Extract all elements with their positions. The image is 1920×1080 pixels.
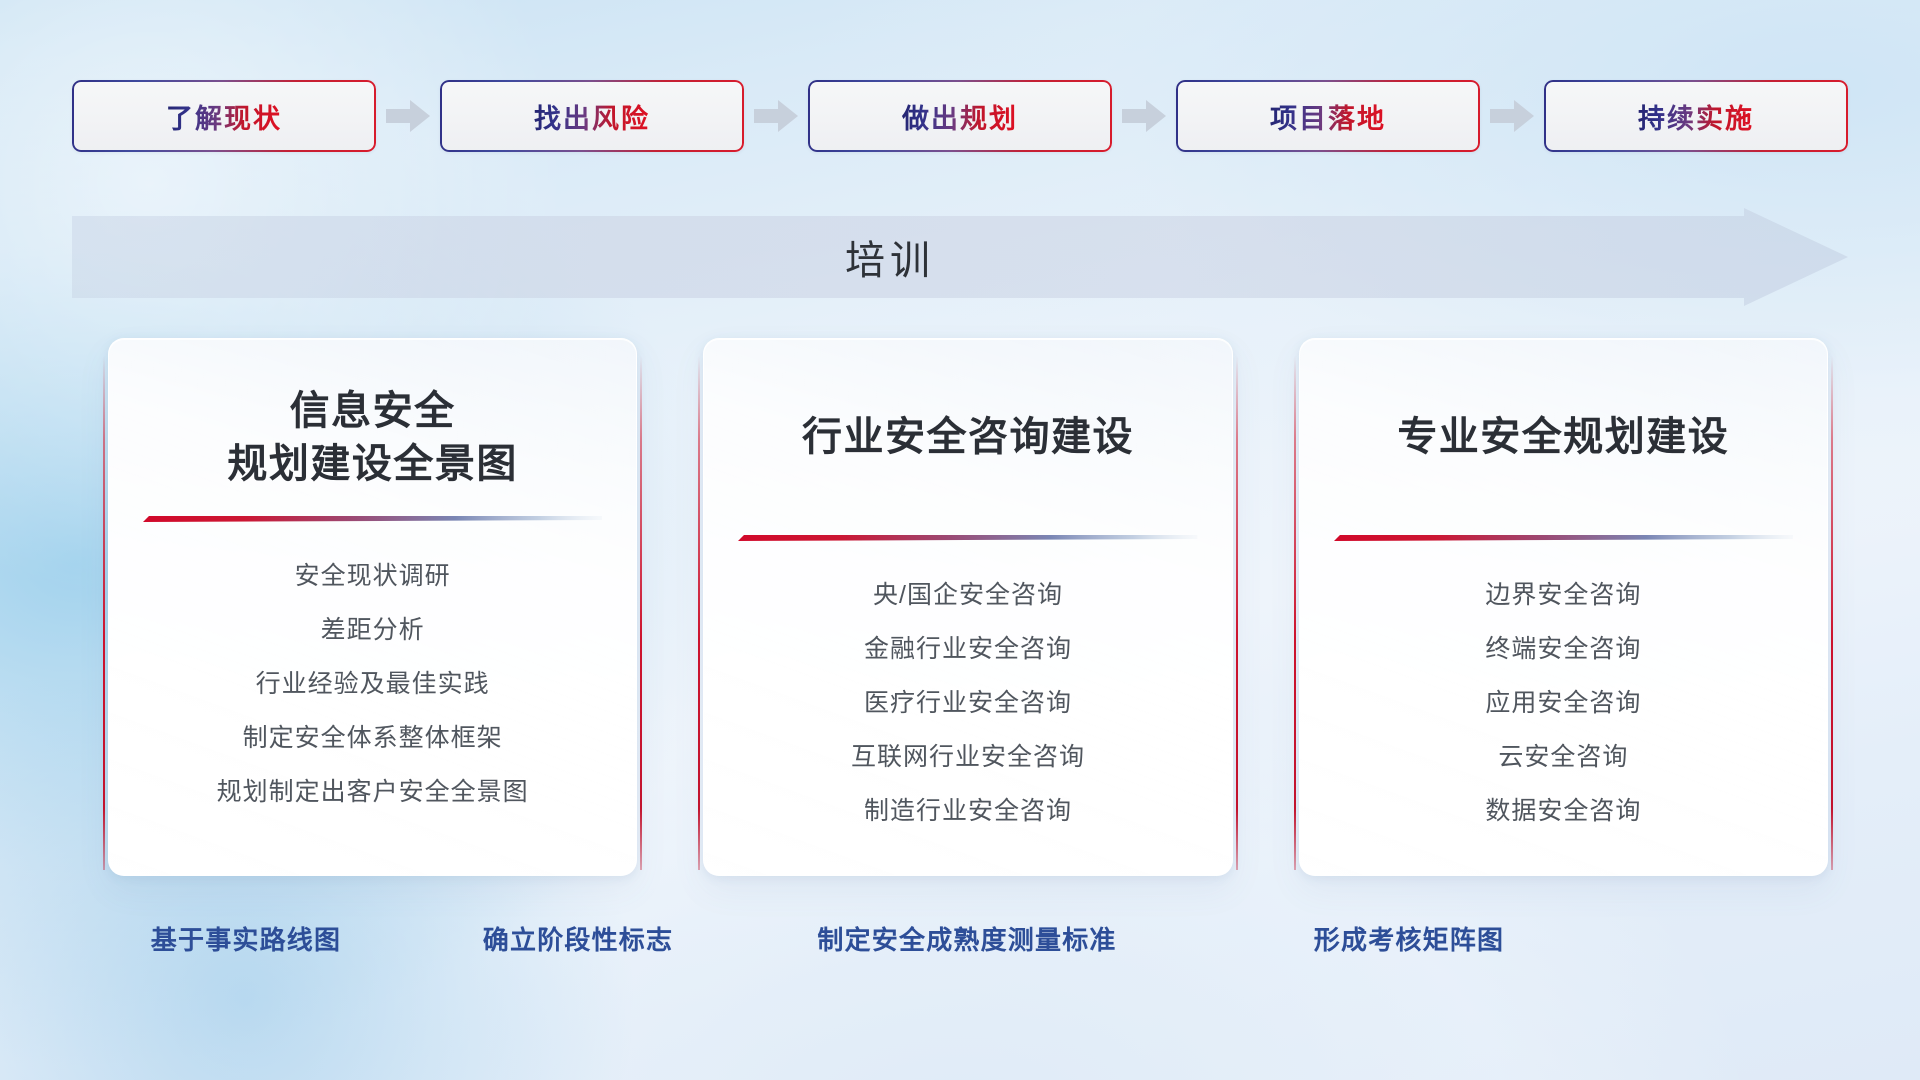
list-item: 医疗行业安全咨询 xyxy=(864,678,1072,728)
card-1-title: 信息安全 规划建设全景图 xyxy=(227,385,518,491)
step-box-1[interactable]: 了解现状 xyxy=(72,80,376,152)
process-step-row: 了解现状 找出风险 做出规划 项目落地 xyxy=(72,80,1848,152)
footnote-2: 确立阶段性标志 xyxy=(483,920,673,957)
card-1-divider xyxy=(143,513,602,525)
card-2-divider xyxy=(738,532,1197,544)
step-box-4[interactable]: 项目落地 xyxy=(1176,80,1480,152)
card-3[interactable]: 专业安全规划建设 xyxy=(1299,338,1828,876)
list-item: 制定安全体系整体框架 xyxy=(243,713,503,763)
arrow-right-icon-1 xyxy=(386,99,430,133)
card-2-list: 央/国企安全咨询 金融行业安全咨询 医疗行业安全咨询 互联网行业安全咨询 制造行… xyxy=(851,570,1085,836)
training-banner: 培训 xyxy=(72,208,1848,306)
footnote-4: 形成考核矩阵图 xyxy=(1314,920,1504,957)
card-row: 信息安全 规划建设全景图 xyxy=(108,338,1828,876)
list-item: 行业经验及最佳实践 xyxy=(256,659,490,709)
list-item: 制造行业安全咨询 xyxy=(864,786,1072,836)
list-item: 云安全咨询 xyxy=(1498,732,1628,782)
arrow-right-icon-3 xyxy=(1122,99,1166,133)
card-3-list: 边界安全咨询 终端安全咨询 应用安全咨询 云安全咨询 数据安全咨询 xyxy=(1485,570,1641,836)
list-item: 差距分析 xyxy=(321,605,425,655)
card-3-title: 专业安全规划建设 xyxy=(1397,411,1729,464)
card-2-title: 行业安全咨询建设 xyxy=(802,411,1134,464)
list-item: 数据安全咨询 xyxy=(1485,786,1641,836)
footnote-row: 基于事实路线图 确立阶段性标志 制定安全成熟度测量标准 形成考核矩阵图 xyxy=(0,920,1920,968)
card-3-divider xyxy=(1334,532,1793,544)
step-label-5: 持续实施 xyxy=(1638,97,1754,136)
step-label-3: 做出规划 xyxy=(902,97,1018,136)
step-box-5[interactable]: 持续实施 xyxy=(1544,80,1848,152)
list-item: 互联网行业安全咨询 xyxy=(851,732,1085,782)
card-slot-1: 信息安全 规划建设全景图 xyxy=(108,338,637,876)
arrow-right-icon-2 xyxy=(754,99,798,133)
list-item: 规划制定出客户安全全景图 xyxy=(217,767,529,817)
list-item: 应用安全咨询 xyxy=(1485,678,1641,728)
list-item: 边界安全咨询 xyxy=(1485,570,1641,620)
list-item: 终端安全咨询 xyxy=(1485,624,1641,674)
list-item: 金融行业安全咨询 xyxy=(864,624,1072,674)
step-box-2[interactable]: 找出风险 xyxy=(440,80,744,152)
card-1[interactable]: 信息安全 规划建设全景图 xyxy=(108,338,637,876)
arrow-right-icon-4 xyxy=(1490,99,1534,133)
card-2[interactable]: 行业安全咨询建设 xyxy=(703,338,1232,876)
step-label-1: 了解现状 xyxy=(166,97,282,136)
step-label-2: 找出风险 xyxy=(534,97,650,136)
footnote-1: 基于事实路线图 xyxy=(151,920,341,957)
list-item: 央/国企安全咨询 xyxy=(873,570,1063,620)
list-item: 安全现状调研 xyxy=(295,551,451,601)
infographic-canvas: 了解现状 找出风险 做出规划 项目落地 xyxy=(0,0,1920,1080)
banner-label: 培训 xyxy=(72,208,1708,306)
card-1-list: 安全现状调研 差距分析 行业经验及最佳实践 制定安全体系整体框架 规划制定出客户… xyxy=(217,551,529,817)
step-box-3[interactable]: 做出规划 xyxy=(808,80,1112,152)
card-slot-2: 行业安全咨询建设 xyxy=(703,338,1232,876)
step-label-4: 项目落地 xyxy=(1270,97,1386,136)
footnote-3: 制定安全成熟度测量标准 xyxy=(817,920,1116,957)
card-slot-3: 专业安全规划建设 xyxy=(1299,338,1828,876)
